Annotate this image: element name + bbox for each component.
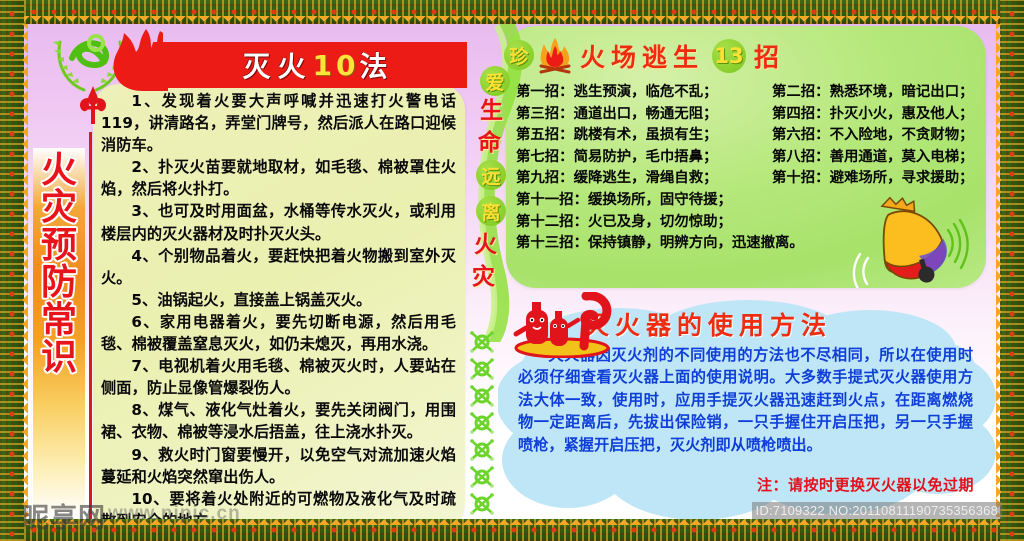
- frame-zigzag-right: [996, 24, 1008, 517]
- slogan-char: 珍: [509, 42, 528, 69]
- watermark-site-url: www.nipic.cn: [108, 503, 241, 525]
- vertical-title-char: 灾: [41, 189, 77, 226]
- vertical-title-char: 火: [41, 152, 77, 189]
- slogan-badge-ai: 爱: [480, 66, 510, 96]
- poster-canvas: 火 灾 预 防 常 识 1、发现着火要大声呼喊并迅速打火警电话119，讲清路名，…: [0, 0, 1024, 541]
- extinguish-method-item: 2、扑灭火苗要就地取材，如毛毯、棉被罩住火焰，然后将火扑打。: [101, 156, 456, 200]
- watermark-id: ID:7109322 NO:20110811190735356368: [752, 502, 1002, 519]
- slogan-char: 爱: [485, 68, 504, 95]
- divider-pattern: [469, 330, 495, 530]
- escape-tip-left: 第十一招：缓换场所，固守待援；: [516, 190, 732, 212]
- escape-tip-row: 第一招：逃生预演，临危不乱；第二招：熟悉环境，暗记出口；: [516, 82, 978, 104]
- extinguish-method-item: 8、煤气、液化气灶着火，要先关闭阀门，用围裙、衣物、棉被等浸水后捂盖，往上浇水扑…: [101, 399, 456, 443]
- escape-tip-right: 第八招：善用通道，莫入电梯；: [772, 147, 973, 169]
- extinguish-method-item: 3、也可及时用面盆，水桶等传水灭火，或利用楼层内的灭火器材及时扑灭火头。: [101, 200, 456, 244]
- slogan-char-huo: 火: [474, 234, 497, 257]
- campfire-icon: [538, 36, 572, 76]
- escape-tips-header: 火场逃生 13 招: [506, 26, 986, 78]
- vertical-slogan: 珍 爱 生 命 远 离 火 灾: [482, 34, 540, 334]
- extinguish-method-item: 9、救火时门窗要慢开，以免空气对流加速火焰蔓延和火焰突然窜出伤人。: [101, 444, 456, 488]
- banner-title-b: 法: [359, 45, 394, 85]
- escape-tips-badge: 13: [712, 39, 746, 73]
- vertical-title: 火 灾 预 防 常 识: [33, 148, 85, 518]
- escape-tip-right: 第十招：避难场所，寻求援助；: [772, 168, 973, 190]
- slogan-char: 离: [481, 198, 500, 225]
- fleur-de-lis-icon: [78, 86, 108, 124]
- escape-tip-row: 第五招：跳楼有术，虽损有生；第六招：不入险地，不贪财物；: [516, 125, 978, 147]
- slogan-badge-zhen: 珍: [504, 40, 534, 70]
- escape-tip-left: 第十二招：火已及身，切勿惊助；: [516, 212, 732, 234]
- extinguish-methods-banner: 灭火 10 法: [140, 42, 467, 88]
- vertical-title-char: 识: [41, 339, 77, 376]
- slogan-char: 远: [481, 162, 500, 189]
- slogan-badge-li: 离: [476, 196, 506, 226]
- extinguish-method-item: 7、电视机着火用毛毯、棉被灭火时，人要站在侧面，防止显像管爆裂伤人。: [101, 355, 456, 399]
- extinguish-methods-list: 1、发现着火要大声呼喊并迅速打火警电话119，讲清路名，弄堂门牌号，然后派人在路…: [93, 84, 465, 530]
- banner-number: 10: [313, 49, 360, 82]
- escape-tip-left: 第五招：跳楼有术，虽损有生；: [516, 125, 772, 147]
- escape-tip-right: 第二招：熟悉环境，暗记出口；: [772, 82, 973, 104]
- escape-tip-left: 第三招：通道出口，畅通无阻；: [516, 104, 772, 126]
- frame-zigzag-left: [16, 24, 28, 517]
- watermark-site-name: 昵享网: [22, 496, 106, 535]
- extinguish-method-item: 1、发现着火要大声呼喊并迅速打火警电话119，讲清路名，弄堂门牌号，然后派人在路…: [101, 90, 456, 156]
- extinguisher-usage-body: 灭火器因灭火剂的不同使用的方法也不尽相同，所以在使用时必须仔细查看灭火器上面的使…: [518, 344, 973, 456]
- escape-tip-left: 第七招：简易防护，毛巾捂鼻；: [516, 147, 772, 169]
- extinguish-method-item: 6、家用电器着火，要先切断电源，然后用毛毯、棉被覆盖窒息灭火，如仍未熄灭，再用水…: [101, 311, 456, 355]
- frame-zigzag-top: [24, 16, 1000, 28]
- extinguisher-usage-paragraph: 灭火器因灭火剂的不同使用的方法也不尽相同，所以在使用时必须仔细查看灭火器上面的使…: [518, 344, 973, 456]
- extinguish-methods-card: 1、发现着火要大声呼喊并迅速打火警电话119，讲清路名，弄堂门牌号，然后派人在路…: [93, 84, 465, 530]
- vertical-title-rule: [89, 132, 92, 524]
- escape-tip-row: 第七招：简易防护，毛巾捂鼻；第八招：善用通道，莫入电梯；: [516, 147, 978, 169]
- slogan-char-sheng: 生: [480, 100, 503, 123]
- vertical-title-char: 防: [41, 264, 77, 301]
- slogan-char-ming: 命: [478, 132, 501, 155]
- extinguisher-usage-panel: 灭火器的使用方法 灭火器因灭火剂的不同使用的方法也不尽相同，所以在使用时必须仔细…: [498, 292, 998, 530]
- extinguisher-usage-title: 灭火器的使用方法: [584, 306, 832, 342]
- escape-tips-badge-number: 13: [712, 39, 746, 73]
- escape-tip-left: 第一招：逃生预演，临危不乱；: [516, 82, 772, 104]
- escape-tip-row: 第九招：缓降逃生，滑绳自救；第十招：避难场所，寻求援助；: [516, 168, 978, 190]
- slogan-char-zai: 灾: [472, 266, 495, 289]
- banner-title-a: 灭火: [243, 45, 313, 85]
- escape-tip-right: 第六招：不入险地，不贪财物；: [772, 125, 973, 147]
- extinguisher-usage-note: 注：请按时更换灭火器以免过期: [757, 474, 974, 495]
- flame-icon: [108, 27, 180, 93]
- vertical-title-char: 预: [41, 227, 77, 264]
- banner-label: 灭火 10 法: [140, 42, 467, 88]
- extinguish-method-item: 5、油锅起火，直接盖上锅盖灭火。: [101, 289, 456, 311]
- escape-tip-right: 第四招：扑灭小火，惠及他人；: [772, 104, 973, 126]
- escape-tip-row: 第三招：通道出口，畅通无阻；第四招：扑灭小火，惠及他人；: [516, 104, 978, 126]
- vertical-title-char: 常: [41, 302, 77, 339]
- escape-tips-title-a: 火场逃生: [580, 38, 704, 74]
- extinguish-method-item: 4、个别物品着火，要赶快把着火物搬到室外灭火。: [101, 245, 456, 289]
- alarm-bell-icon: [850, 192, 970, 288]
- escape-tip-left: 第九招：缓降逃生，滑绳自救；: [516, 168, 772, 190]
- escape-tips-title-b: 招: [754, 38, 785, 74]
- escape-tips-card: 火场逃生 13 招 第一招：逃生预演，临危不乱；第二招：熟悉环境，暗记出口；第三…: [506, 26, 986, 288]
- slogan-badge-yuan: 远: [476, 160, 506, 190]
- escape-tip-left: 第十三招：保持镇静，明辨方向，迅速撤离。: [516, 233, 804, 255]
